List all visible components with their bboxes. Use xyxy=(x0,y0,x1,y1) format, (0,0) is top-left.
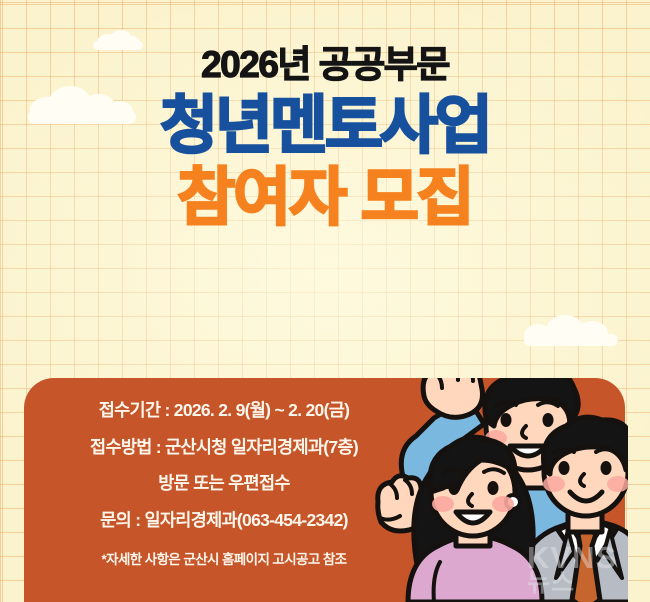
info-footnote: *자세한 사항은 군산시 홈페이지 고시공고 참조 xyxy=(24,548,424,568)
poster-sub-title: 참여자 모집 xyxy=(0,163,650,234)
cloud-icon xyxy=(524,312,620,346)
info-contact-phone: (063-454-2342) xyxy=(237,510,348,530)
poster-headings: 2026년 공공부문 청년멘토사업 참여자 모집 xyxy=(0,46,650,234)
info-period-end: 2. 20 xyxy=(288,400,323,420)
info-period-mid: (월) ~ xyxy=(245,400,289,420)
info-period-start: 2. 9 xyxy=(218,400,244,420)
info-contact-department: 일자리경제과 xyxy=(145,510,237,530)
raised-fist-blue xyxy=(423,357,482,418)
info-period-tail: (금) xyxy=(324,400,350,420)
poster-canvas: 2026년 공공부문 청년멘토사업 참여자 모집 접수기간 : 2026. 2.… xyxy=(0,0,650,602)
info-contact-label: 문의 : xyxy=(100,510,144,530)
info-line-method-detail: 방문 또는 우편접수 xyxy=(24,475,424,493)
three-people-illustration xyxy=(372,352,650,602)
info-line-contact: 문의 : 일자리경제과(063-454-2342) xyxy=(24,512,424,530)
people-svg xyxy=(372,352,650,602)
info-text-block: 접수기간 : 2026. 2. 9(월) ~ 2. 20(금) 접수방법 : 군… xyxy=(24,402,424,568)
info-line-period: 접수기간 : 2026. 2. 9(월) ~ 2. 20(금) xyxy=(24,402,424,420)
info-period-label: 접수기간 : 2026. xyxy=(99,400,219,420)
info-line-method: 접수방법 : 군산시청 일자리경제과(7층) xyxy=(24,439,424,457)
poster-main-title: 청년멘토사업 xyxy=(0,91,650,162)
poster-eyebrow-title: 2026년 공공부문 xyxy=(0,46,650,85)
